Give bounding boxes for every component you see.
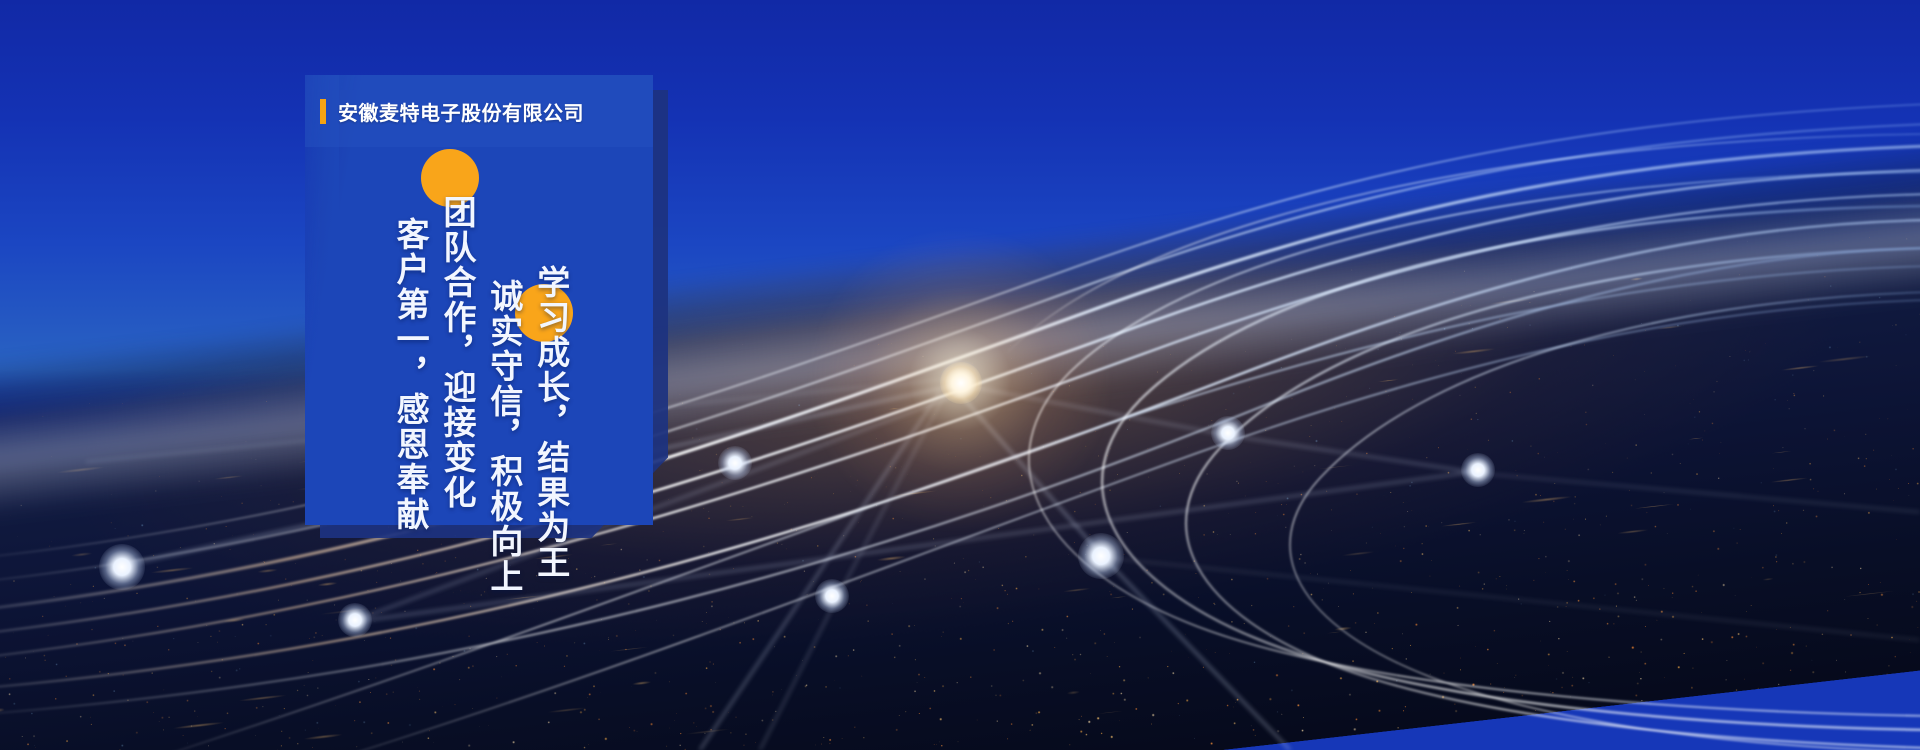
slogan-columns: 学习成长，结果为王 诚实守信，积极向上 团队合作，迎接变化 客户第一，感恩奉献 <box>305 147 653 525</box>
panel-title-row: 安徽麦特电子股份有限公司 <box>305 75 653 147</box>
slogan-text: 诚实守信，积极向上 <box>485 279 521 594</box>
slogan-column-integrity: 诚实守信，积极向上 <box>481 147 524 594</box>
slogan-column-customer: 客户第一，感恩奉献 <box>387 147 430 532</box>
slogan-column-learning: 学习成长，结果为王 <box>528 147 571 580</box>
slogan-text: 学习成长，结果为王 <box>532 265 568 580</box>
orange-accent-bar-icon <box>320 99 326 124</box>
light-burst-core <box>940 362 982 404</box>
slogan-column-teamwork: 团队合作，迎接变化 <box>434 147 477 510</box>
slogan-text: 客户第一，感恩奉献 <box>391 217 427 532</box>
culture-panel: 安徽麦特电子股份有限公司 学习成长，结果为王 诚实守信，积极向上 团队合作，迎接… <box>305 75 653 525</box>
banner-stage: 安徽麦特电子股份有限公司 学习成长，结果为王 诚实守信，积极向上 团队合作，迎接… <box>0 0 1920 750</box>
slogan-text: 团队合作，迎接变化 <box>438 195 474 510</box>
company-name-title: 安徽麦特电子股份有限公司 <box>338 97 584 126</box>
